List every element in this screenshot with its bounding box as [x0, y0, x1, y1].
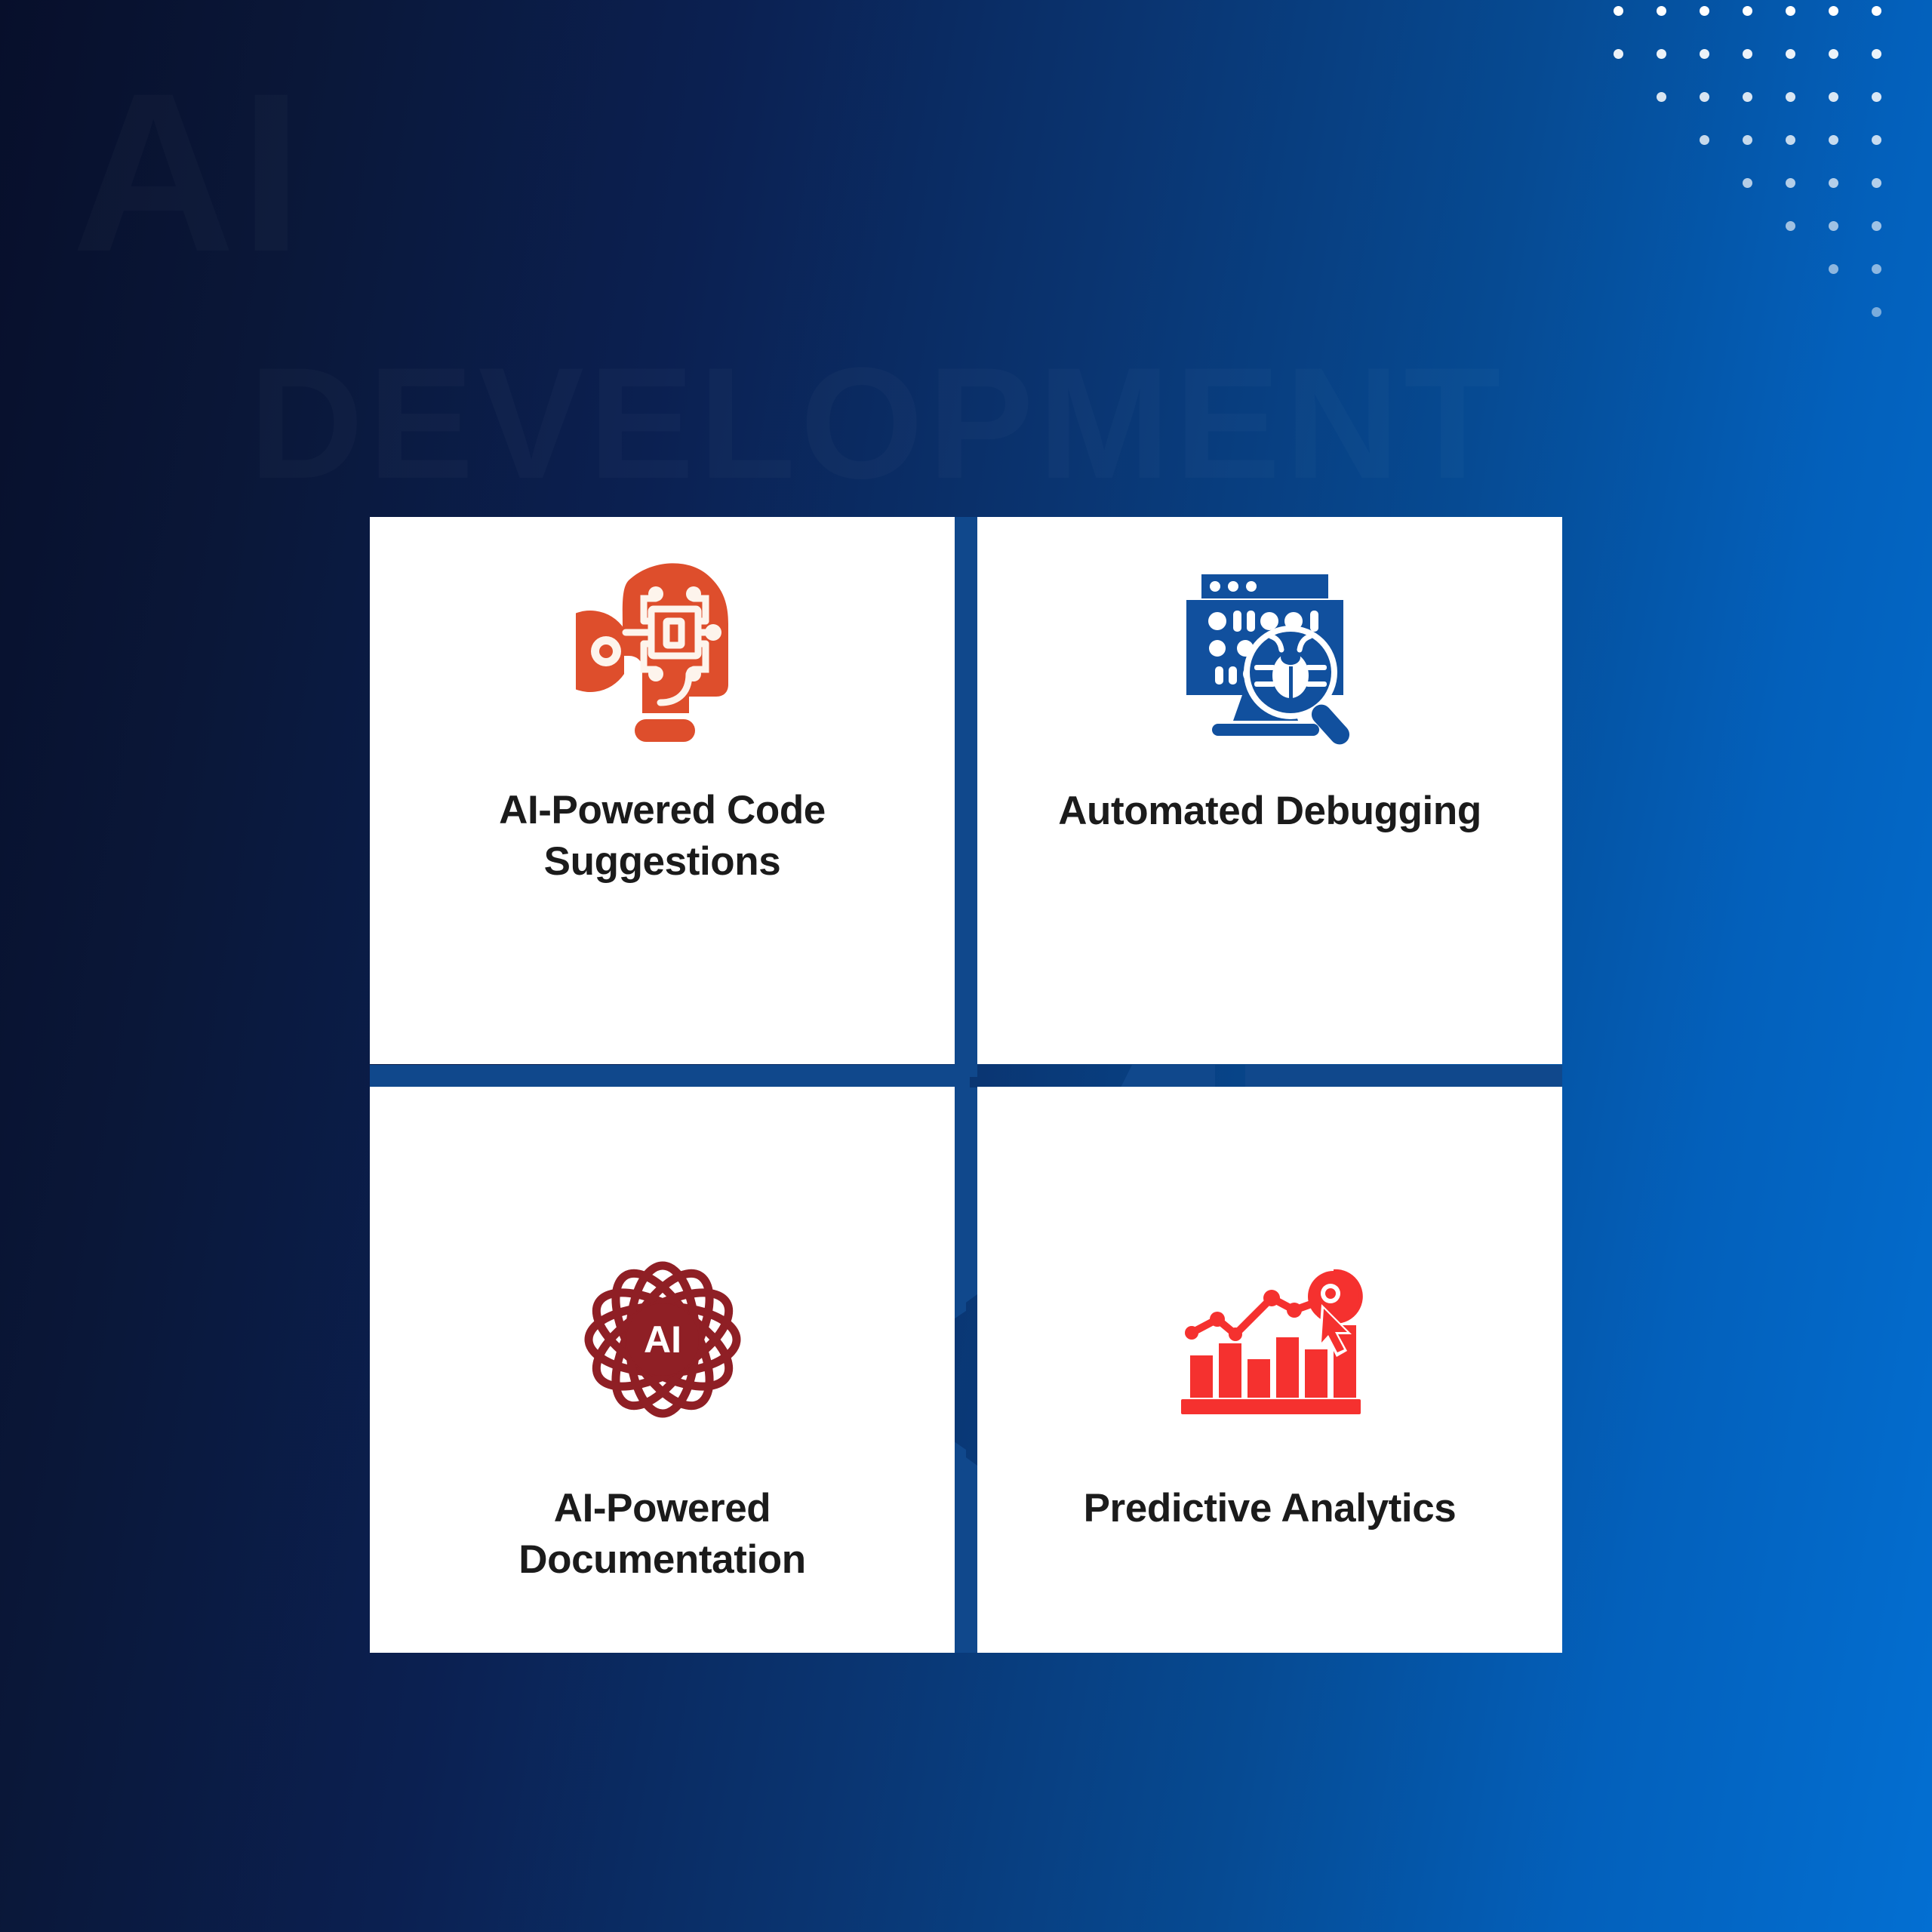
background-dot	[1743, 178, 1752, 188]
background-dot	[1786, 6, 1795, 16]
background-dot	[1743, 92, 1752, 102]
background-dot	[1657, 92, 1666, 102]
background-dot	[1657, 6, 1666, 16]
background-dot	[1743, 6, 1752, 16]
atom-icon-label: AI	[644, 1318, 681, 1361]
bar-chart-trend-cursor-icon	[1174, 1241, 1366, 1438]
background-dot	[1786, 49, 1795, 59]
background-dot	[1829, 178, 1838, 188]
background-dot	[1872, 49, 1881, 59]
card-title: AI-Powered Documentation	[436, 1483, 889, 1586]
background-dot	[1743, 135, 1752, 145]
background-dot	[1872, 135, 1881, 145]
background-watermark-mid: DEVELOPMENT	[249, 332, 1505, 515]
background-dot	[1743, 49, 1752, 59]
background-dot	[1829, 221, 1838, 231]
background-dot	[1872, 221, 1881, 231]
background-dot	[1700, 92, 1709, 102]
background-dot	[1872, 307, 1881, 317]
monitor-bug-magnifier-icon	[1176, 555, 1364, 751]
background-dot	[1872, 6, 1881, 16]
decorative-dot-grid	[1600, 0, 1932, 332]
background-dot	[1786, 135, 1795, 145]
feature-card-ai-powered-code-suggestions[interactable]: AI-Powered Code Suggestions	[370, 517, 955, 1064]
background-dot	[1829, 135, 1838, 145]
feature-card-predictive-analytics[interactable]: Predictive Analytics	[977, 1087, 1562, 1653]
atom-ai-icon: AI	[576, 1241, 749, 1438]
background-dot	[1786, 92, 1795, 102]
horizontal-divider-left-path	[370, 1065, 970, 1088]
feature-card-automated-debugging[interactable]: Automated Debugging	[977, 517, 1562, 1064]
background-dot	[1829, 264, 1838, 274]
background-watermark-top: AI	[72, 42, 307, 303]
card-title: Predictive Analytics	[1084, 1483, 1457, 1534]
background-dot	[1614, 49, 1623, 59]
background-dot	[1786, 178, 1795, 188]
background-dot	[1786, 221, 1795, 231]
background-dot	[1829, 6, 1838, 16]
background-dot	[1700, 135, 1709, 145]
feature-card-grid: AI-Powered Code Suggestions	[370, 517, 1562, 1653]
background-dot	[1872, 92, 1881, 102]
infographic-canvas: AI DEVELOPMENT	[0, 0, 1932, 1932]
background-dot	[1700, 49, 1709, 59]
robot-head-circuit-icon	[576, 551, 749, 747]
background-dot	[1872, 178, 1881, 188]
card-title: AI-Powered Code Suggestions	[436, 785, 889, 888]
background-dot	[1829, 49, 1838, 59]
background-dot	[1829, 92, 1838, 102]
background-dot	[1657, 49, 1666, 59]
background-dot	[1872, 264, 1881, 274]
background-dot	[1700, 6, 1709, 16]
feature-card-ai-powered-documentation[interactable]: AI AI-Powered Documentation	[370, 1087, 955, 1653]
horizontal-divider-right-fill	[1289, 1065, 1562, 1088]
card-title: Automated Debugging	[1058, 786, 1481, 837]
background-dot	[1614, 6, 1623, 16]
